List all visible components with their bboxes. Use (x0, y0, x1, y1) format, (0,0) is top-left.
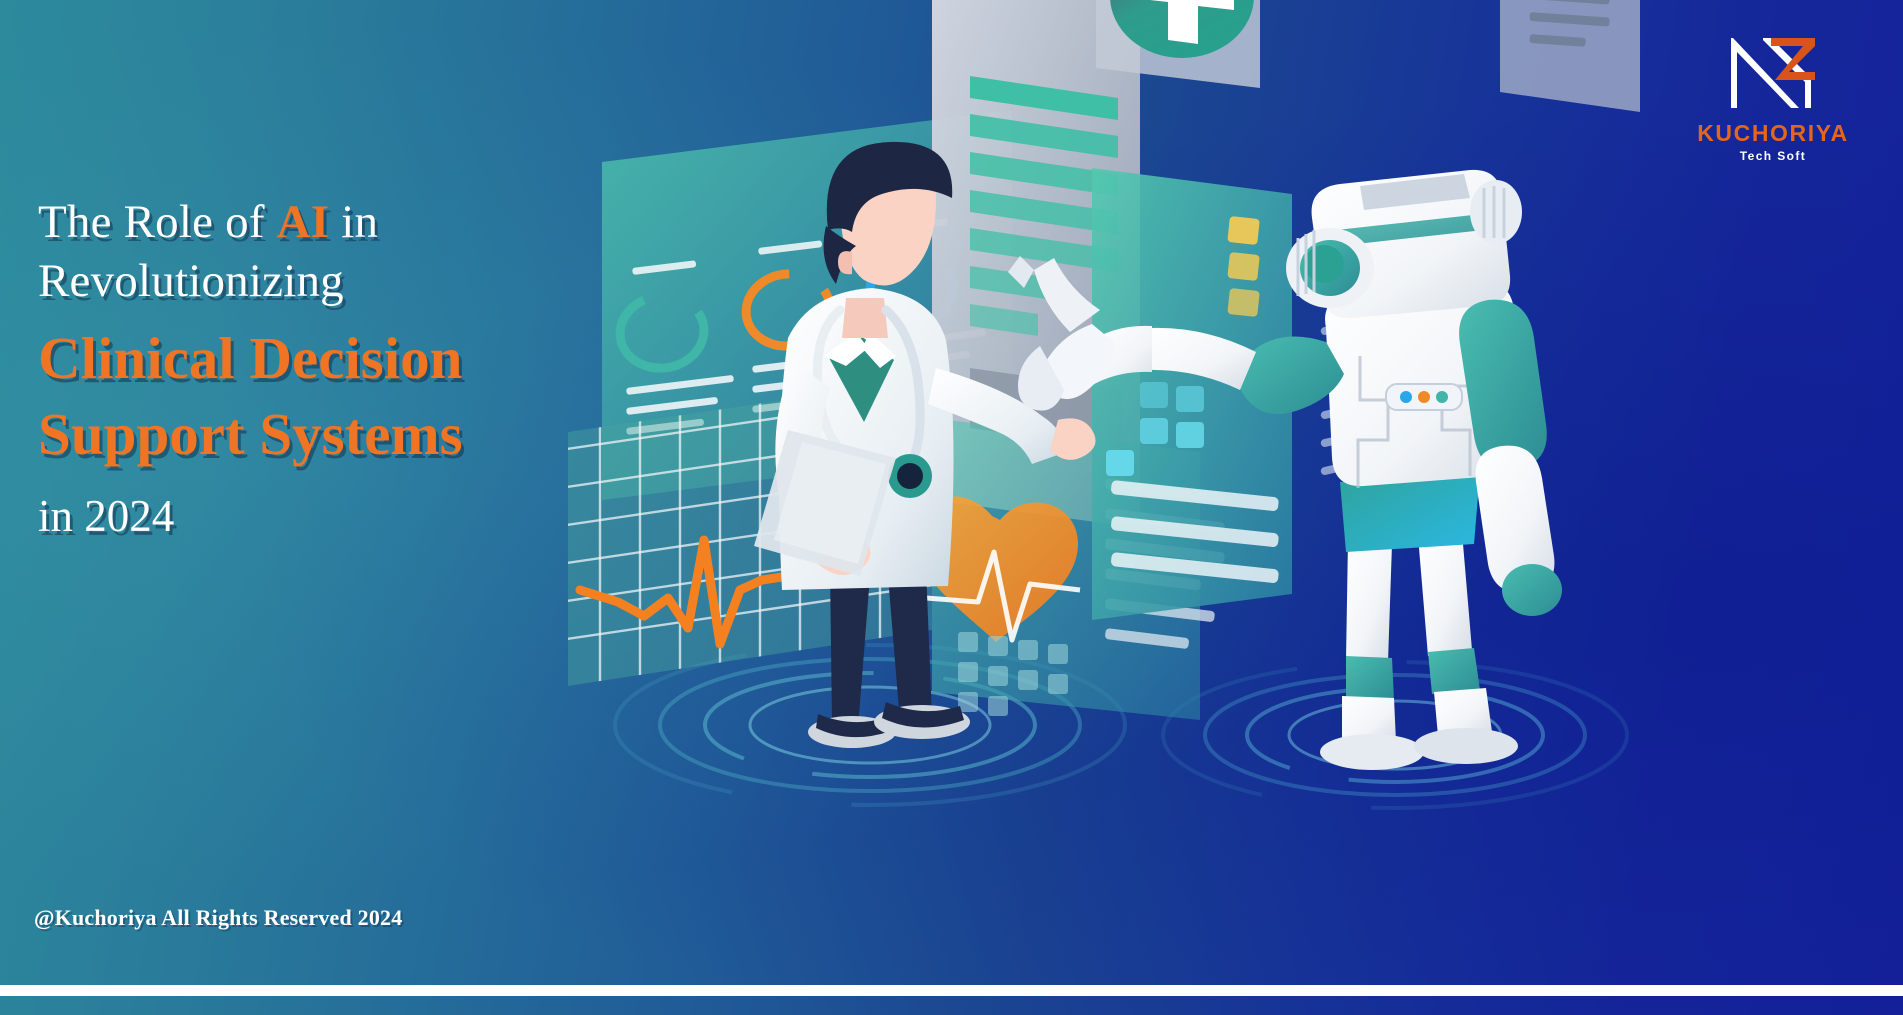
brand-logo[interactable]: KUCHORIYA Tech Soft (1683, 32, 1863, 162)
headline-line-1b: in (329, 196, 378, 248)
bottom-divider (0, 985, 1903, 996)
logo-tagline: Tech Soft (1683, 150, 1863, 162)
copyright-text: @Kuchoriya All Rights Reserved 2024 (34, 905, 402, 931)
headline-line-5: in 2024 (38, 491, 718, 541)
headline-line-1: The Role of AI in (38, 196, 718, 249)
headline-block: The Role of AI in Revolutionizing Clinic… (38, 196, 718, 548)
headline-accent-ai: AI (277, 196, 330, 248)
headline-line-1a: The Role of (38, 196, 277, 248)
headline-line-3: Clinical Decision (38, 325, 718, 391)
touch-panel-yellow-tiles (1227, 216, 1260, 317)
headline-line-2: Revolutionizing (38, 255, 718, 308)
records-card (1500, 0, 1640, 112)
kuchoriya-monogram-icon (1719, 32, 1827, 114)
headline-line-4: Support Systems (38, 401, 718, 467)
logo-name: KUCHORIYA (1683, 122, 1863, 145)
banner-canvas: The Role of AI in Revolutionizing Clinic… (0, 0, 1903, 1015)
